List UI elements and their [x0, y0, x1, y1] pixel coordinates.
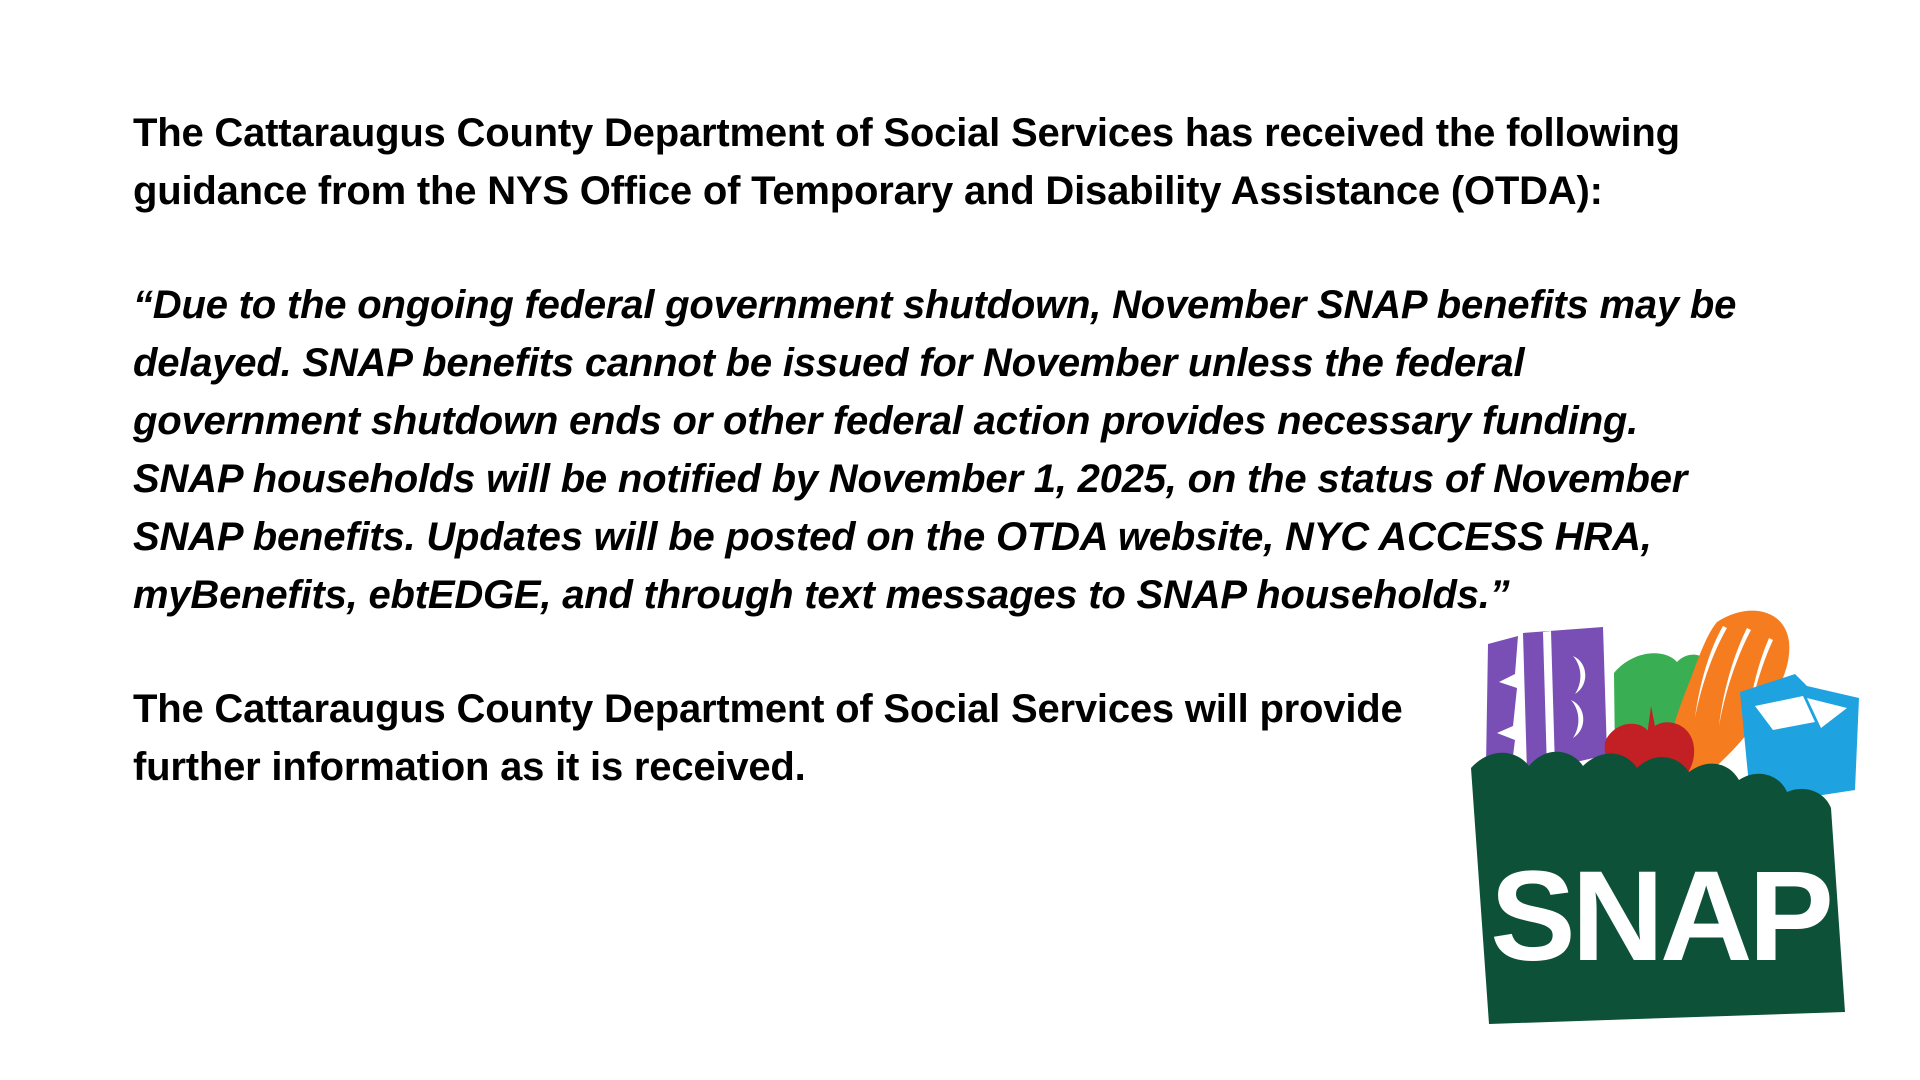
snap-wordmark: SNAP — [1490, 845, 1830, 988]
closing-paragraph: The Cattaraugus County Department of Soc… — [133, 680, 1433, 796]
otda-quote-paragraph: “Due to the ongoing federal government s… — [133, 276, 1753, 624]
intro-paragraph: The Cattaraugus County Department of Soc… — [133, 104, 1773, 220]
cereal-box-icon — [1486, 627, 1607, 773]
snap-logo: SNAP — [1455, 600, 1875, 1030]
svg-text:SNAP: SNAP — [1490, 845, 1830, 988]
